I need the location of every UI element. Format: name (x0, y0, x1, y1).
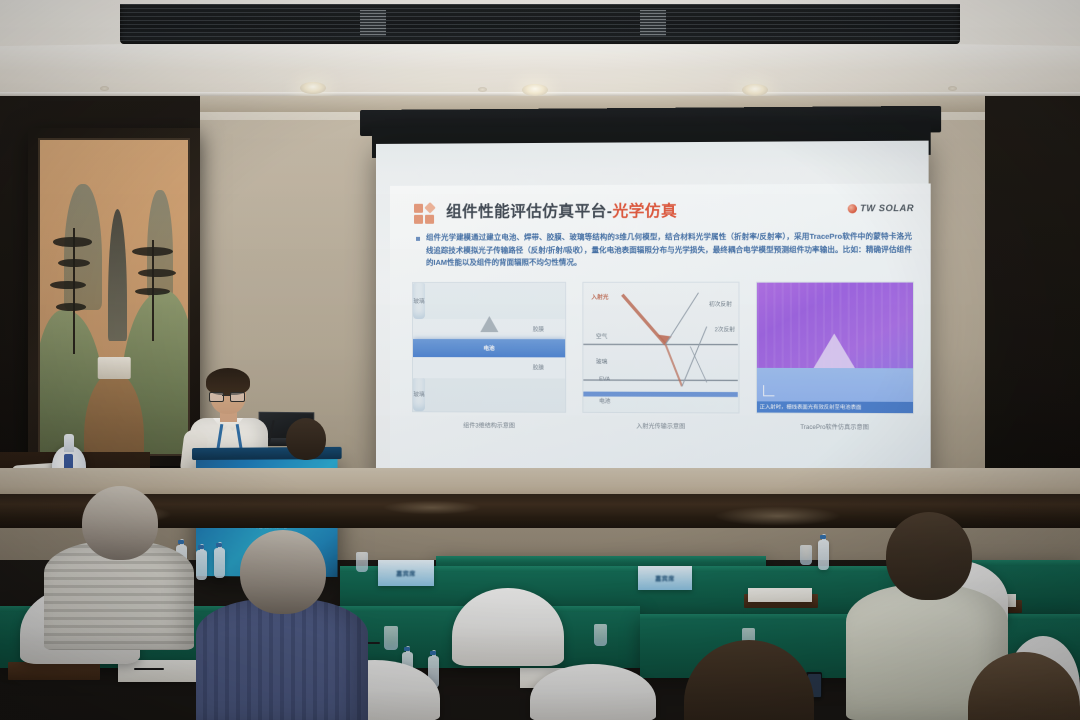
label-incident-light: 入射光 (591, 293, 608, 301)
layer-label: 胶膜 (533, 364, 544, 372)
brand-logo: TW SOLAR (848, 203, 914, 213)
drinking-glass (384, 626, 398, 650)
ceiling-soffit (0, 44, 1080, 70)
vase-neck (64, 434, 74, 452)
render-prism (814, 334, 855, 369)
painting-hut (98, 357, 131, 379)
label-medium-air: 空气 (596, 332, 607, 340)
wall-painting (28, 128, 200, 466)
presentation-slide: 组件性能评估仿真平台-光学仿真 TW SOLAR 组件光学建模通过建立电池、焊带… (390, 183, 931, 487)
slide-diagram-panels: 玻璃 胶膜 电池 胶膜 玻璃 (412, 282, 914, 415)
name-card-text: 嘉宾席 (655, 574, 675, 583)
eyeglasses-bridge (222, 395, 230, 396)
bullet-text: 组件光学建模通过建立电池、焊带、胶膜、玻璃等结构的3维几何模型，结合材料光学属性… (426, 230, 912, 270)
layer-glass-bottom: 玻璃 (413, 378, 425, 411)
axis-indicator-icon (763, 385, 774, 396)
icon-square (414, 215, 423, 224)
layer-glass-top: 玻璃 (413, 283, 425, 319)
audience-member (968, 652, 1080, 720)
bottle-cap (820, 535, 826, 539)
presenter-hair (206, 368, 250, 395)
name-card-text: 嘉宾席 (396, 569, 416, 578)
audience-member (684, 640, 814, 720)
slide-header: 组件性能评估仿真平台-光学仿真 TW SOLAR (414, 198, 914, 230)
pine-tree-icon (73, 228, 75, 354)
drinking-glass (594, 624, 607, 646)
slide-title-main: 组件性能评估仿真平台- (446, 203, 612, 221)
bullet-marker-icon (416, 237, 420, 241)
layer-cell: 电池 (413, 339, 565, 357)
label-medium-cell: 电池 (599, 396, 610, 404)
slide-title: 组件性能评估仿真平台-光学仿真 (446, 199, 677, 222)
render-caption-overlay: 正入射时，栅线表面光有效反射至电池表面 (757, 401, 913, 413)
table-name-card: 嘉宾席 (638, 566, 692, 590)
audience-head (286, 418, 326, 460)
pine-branch (56, 303, 86, 311)
audience-member (196, 530, 368, 720)
painting-mountain (64, 184, 102, 310)
audience-torso (196, 598, 368, 720)
projection-screen: 组件性能评估仿真平台-光学仿真 TW SOLAR 组件光学建模通过建立电池、焊带… (368, 118, 931, 494)
audience-head (968, 652, 1080, 720)
icon-diamond (424, 202, 435, 213)
audience-head (684, 640, 814, 720)
grid-squares-icon (414, 204, 438, 224)
caption-panel-1: 组件3维结构示意图 (412, 420, 566, 430)
pine-branch (138, 269, 176, 277)
notepad (748, 588, 812, 602)
downlight-icon (522, 84, 548, 96)
caption-panel-3: TracePro软件仿真示意图 (756, 422, 914, 432)
pen (134, 668, 164, 670)
panel-captions: 组件3维结构示意图 入射光传输示意图 TracePro软件仿真示意图 (412, 420, 914, 431)
audience-member (286, 418, 330, 470)
downlight-icon (300, 82, 326, 94)
painting-mountain (147, 190, 174, 297)
eyeglasses-icon (209, 392, 224, 402)
table-name-card: 嘉宾席 (378, 560, 434, 586)
layer-label: 电池 (483, 344, 494, 352)
painting-canvas (38, 138, 190, 456)
downlight-icon (742, 84, 768, 96)
label-primary-reflection: 初次反射 (709, 300, 732, 308)
panel-ray-diagram: 入射光 初次反射 2次反射 空气 玻璃 EVA 电池 (583, 282, 739, 414)
layer-label: 玻璃 (413, 297, 424, 305)
vent-grille-icon (640, 10, 666, 36)
downlight-icon (100, 86, 109, 91)
label-secondary-reflection: 2次反射 (715, 325, 735, 333)
conference-photo: 组件性能评估仿真平台-光学仿真 TW SOLAR 组件光学建模通过建立电池、焊带… (0, 0, 1080, 720)
downlight-icon (948, 86, 957, 91)
caption-panel-2: 入射光传输示意图 (583, 421, 739, 431)
label-medium-eva: EVA (599, 377, 610, 383)
slide-title-accent: 光学仿真 (612, 203, 677, 220)
layer-eva-bottom: 胶膜 (413, 357, 565, 378)
pine-branch (53, 237, 91, 246)
audience-head (82, 486, 158, 560)
wall-panel-right (985, 96, 1080, 496)
desk-mat (8, 662, 100, 680)
table-edge (436, 556, 766, 562)
slide-bullet: 组件光学建模通过建立电池、焊带、胶膜、玻璃等结构的3维几何模型，结合材料光学属性… (416, 230, 912, 270)
painting-mountain (108, 209, 127, 341)
bottle-cap (404, 647, 410, 651)
bottle-cap (430, 651, 436, 655)
icon-square (414, 204, 423, 213)
panel-tracepro-render: 正入射时，栅线表面光有效反射至电池表面 (756, 282, 914, 415)
water-bottle (818, 540, 829, 570)
ceiling-vent-slot (120, 4, 960, 44)
audience-member (44, 486, 194, 636)
label-medium-glass: 玻璃 (596, 358, 607, 366)
pine-branch (135, 288, 171, 296)
vent-grille-icon (360, 10, 386, 36)
audience-head (886, 512, 972, 600)
structure-peak (480, 316, 498, 332)
downlight-icon (478, 87, 487, 92)
audience-head (240, 530, 326, 614)
panel-module-structure: 玻璃 胶膜 电池 胶膜 玻璃 (412, 282, 566, 413)
layer-label: 胶膜 (533, 325, 544, 333)
eyeglasses-icon (230, 392, 245, 402)
layer-label: 玻璃 (413, 390, 424, 398)
drinking-glass (800, 545, 812, 565)
vent-louvers (120, 4, 960, 44)
screen-surface: 组件性能评估仿真平台-光学仿真 TW SOLAR 组件光学建模通过建立电池、焊带… (376, 141, 929, 488)
logo-text: TW SOLAR (860, 203, 914, 213)
icon-square (425, 215, 434, 224)
logo-mark-icon (848, 204, 857, 213)
